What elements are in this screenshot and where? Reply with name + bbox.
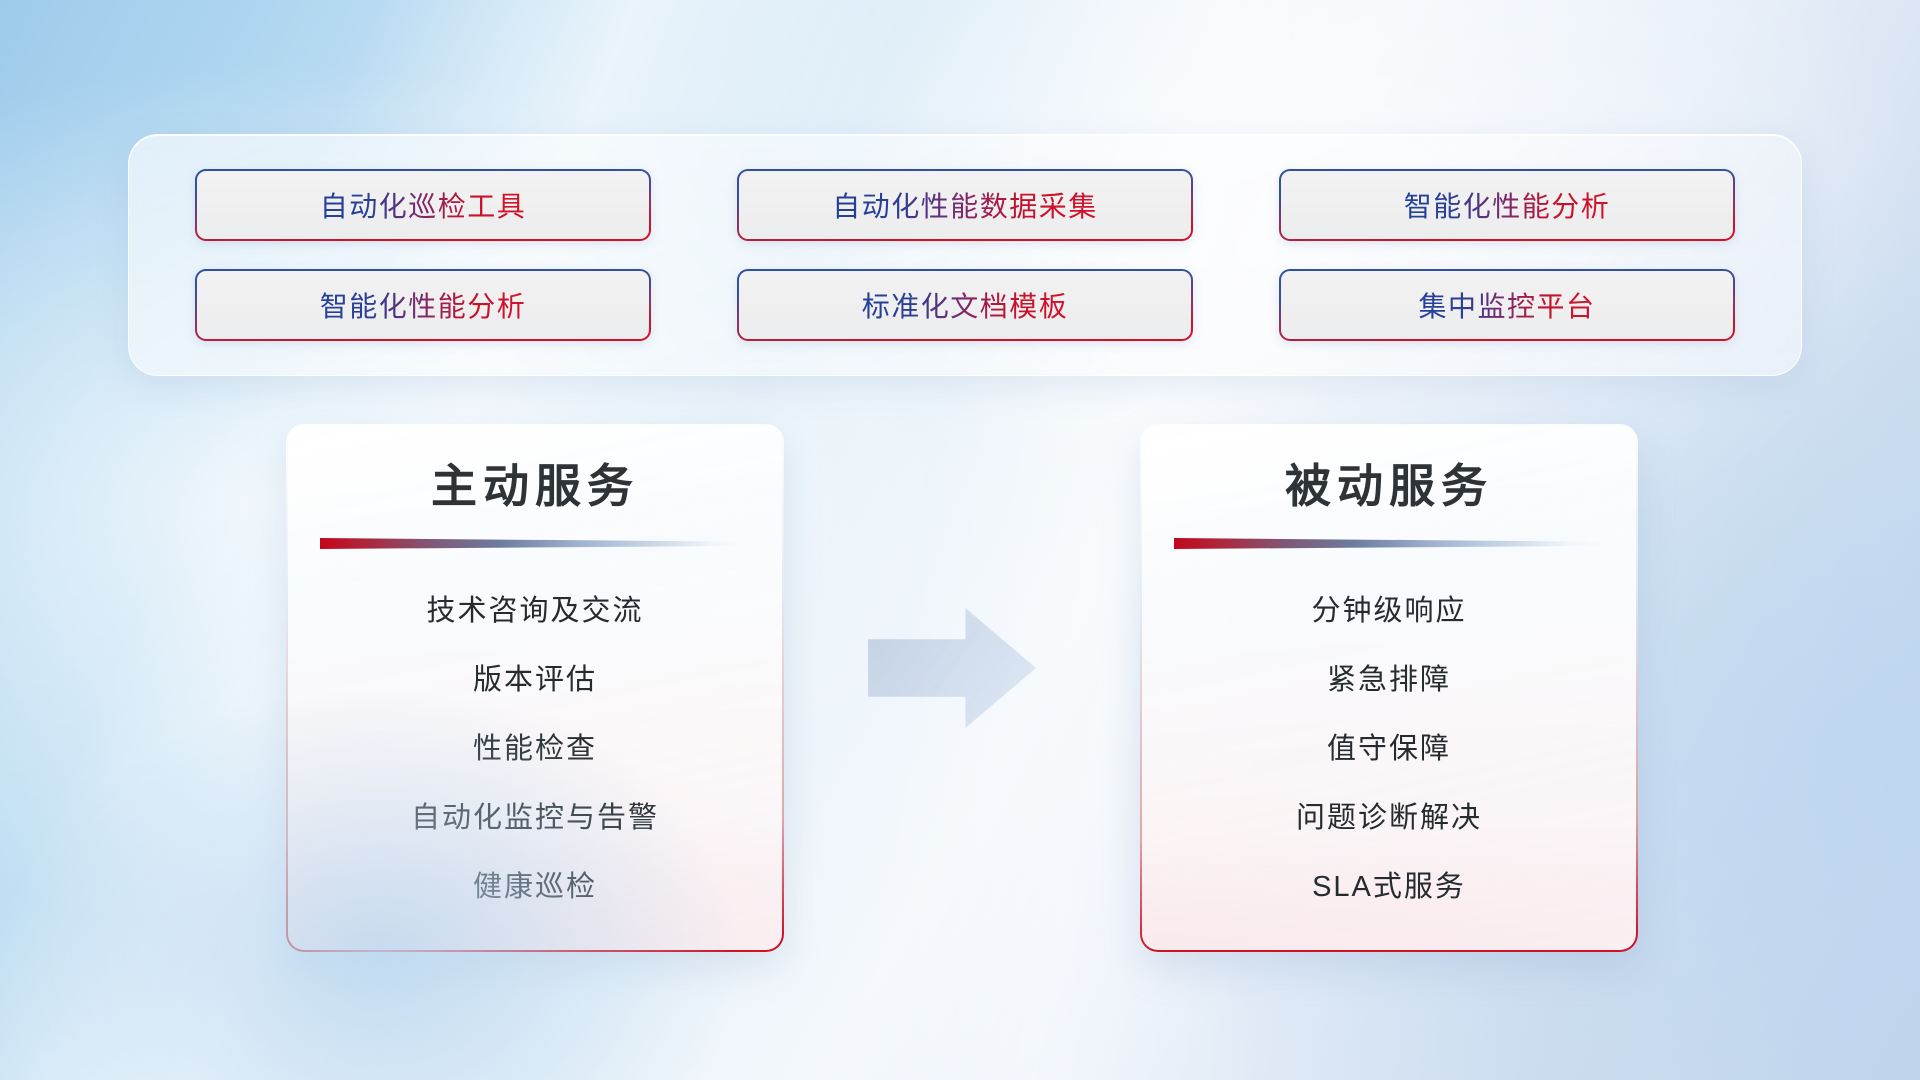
capability-chip[interactable]: 智能化性能分析 [195, 269, 651, 341]
service-card-title: 主动服务 [431, 450, 639, 516]
capability-chip-inner: 标准化文档模板 [739, 271, 1191, 339]
list-item: 分钟级响应 [1311, 577, 1466, 646]
capability-chip-inner: 自动化巡检工具 [197, 171, 649, 239]
list-item: 自动化监控与告警 [411, 784, 659, 853]
list-item: 版本评估 [473, 646, 597, 715]
capability-chip-inner: 自动化性能数据采集 [739, 171, 1191, 239]
capability-chip-label: 智能化性能分析 [320, 285, 527, 325]
list-item: 问题诊断解决 [1296, 784, 1482, 853]
capability-chip-inner: 智能化性能分析 [1281, 171, 1733, 239]
list-item: 健康巡检 [473, 853, 597, 922]
service-card-proactive[interactable]: 主动服务 技术咨询及交流 版本评估 性能检查 自动化监控与告警 健康巡检 [286, 424, 784, 952]
service-card-reactive[interactable]: 被动服务 分钟级响应 紧急排障 值守保障 问题诊断解决 SLA式服务 [1140, 424, 1638, 952]
capability-chip-label: 集中监控平台 [1418, 285, 1595, 325]
capability-chip[interactable]: 集中监控平台 [1279, 269, 1735, 341]
capability-chip[interactable]: 自动化巡检工具 [195, 169, 651, 241]
service-item-list: 技术咨询及交流 版本评估 性能检查 自动化监控与告警 健康巡检 [288, 577, 782, 922]
capability-chip-label: 自动化性能数据采集 [832, 185, 1098, 225]
list-item: 性能检查 [473, 715, 597, 784]
infographic-stage: 自动化巡检工具 自动化性能数据采集 智能化性能分析 智能化性能分析 [0, 0, 1920, 1080]
title-divider [1174, 538, 1604, 549]
capability-chip[interactable]: 智能化性能分析 [1279, 169, 1735, 241]
title-divider [320, 538, 750, 549]
capability-panel: 自动化巡检工具 自动化性能数据采集 智能化性能分析 智能化性能分析 [128, 134, 1802, 376]
capability-chip-grid: 自动化巡检工具 自动化性能数据采集 智能化性能分析 智能化性能分析 [195, 169, 1735, 341]
service-card-title: 被动服务 [1285, 450, 1493, 516]
capability-chip-inner: 集中监控平台 [1281, 271, 1733, 339]
capability-chip-label: 自动化巡检工具 [320, 185, 527, 225]
capability-chip[interactable]: 自动化性能数据采集 [737, 169, 1193, 241]
list-item: 紧急排障 [1327, 646, 1451, 715]
capability-chip[interactable]: 标准化文档模板 [737, 269, 1193, 341]
list-item: 技术咨询及交流 [426, 577, 643, 646]
arrow-right-icon [868, 608, 1036, 728]
service-item-list: 分钟级响应 紧急排障 值守保障 问题诊断解决 SLA式服务 [1142, 577, 1636, 922]
capability-chip-inner: 智能化性能分析 [197, 271, 649, 339]
divider-bar [320, 538, 750, 549]
capability-chip-label: 标准化文档模板 [862, 285, 1069, 325]
service-card-inner: 主动服务 技术咨询及交流 版本评估 性能检查 自动化监控与告警 健康巡检 [288, 426, 782, 950]
list-item: SLA式服务 [1312, 853, 1466, 922]
capability-chip-label: 智能化性能分析 [1404, 185, 1611, 225]
divider-bar [1174, 538, 1604, 549]
service-card-inner: 被动服务 分钟级响应 紧急排障 值守保障 问题诊断解决 SLA式服务 [1142, 426, 1636, 950]
list-item: 值守保障 [1327, 715, 1451, 784]
